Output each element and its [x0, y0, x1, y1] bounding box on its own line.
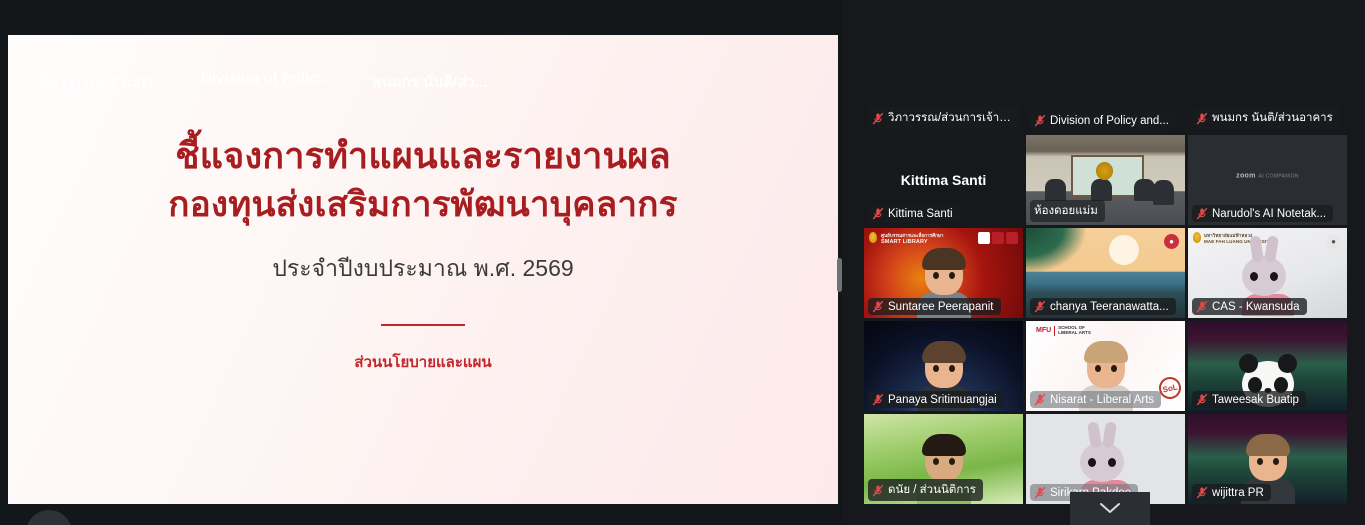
- mfu-logo: MFUSCHOOL OFLIBERAL ARTS: [1036, 326, 1091, 336]
- participant-tile-grid: วิภาวรรณ/ส่วนการเจ้าห... Division of Pol…: [864, 107, 1348, 507]
- mic-muted-icon: [872, 393, 884, 406]
- mic-muted-icon: [1034, 300, 1046, 313]
- active-speaker-name-strip: วิภาวรรณ/ส่วนกา... Division of Polic... …: [22, 70, 524, 98]
- slide-department: ส่วนนโยบายและแผน: [354, 350, 491, 374]
- tile-row: Kittima Santi Kittima Santi ห้องดอยแม่ม: [864, 135, 1348, 225]
- participant-name: Panaya Sritimuangjai: [888, 394, 997, 406]
- name-pill: ห้องดอยแม่ม: [1030, 200, 1105, 222]
- chevron-down-icon: [1099, 502, 1121, 515]
- participant-name: chanya Teeranawatta...: [1050, 301, 1169, 313]
- slide-subtitle: ประจำปีงบประมาณ พ.ศ. 2569: [272, 251, 573, 287]
- tile-row: วิภาวรรณ/ส่วนการเจ้าห... Division of Pol…: [864, 107, 1348, 132]
- badge-group: [978, 232, 1018, 244]
- participant-name: ห้องดอยแม่ม: [1034, 202, 1098, 220]
- recording-badge-icon: ●: [1164, 234, 1179, 249]
- participant-name: Kittima Santi: [888, 208, 953, 220]
- mic-muted-icon: [872, 207, 884, 220]
- name-pill: Narudol's AI Notetak...: [1192, 205, 1333, 222]
- participant-tile[interactable]: วิภาวรรณ/ส่วนการเจ้าห...: [864, 107, 1023, 132]
- participant-tile[interactable]: Division of Policy and...: [1026, 107, 1185, 132]
- participant-name: วิภาวรรณ/ส่วนการเจ้าห...: [888, 109, 1013, 127]
- mic-muted-icon: [1196, 112, 1208, 125]
- name-pill: Suntaree Peerapanit: [868, 298, 1001, 315]
- slide-title-line-2: กองทุนส่งเสริมการพัฒนาบุคลากร: [168, 181, 677, 229]
- participant-name: พนมกร นันติ/ส่วนอาคาร: [1212, 109, 1333, 127]
- name-pill: Taweesak Buatip: [1192, 391, 1306, 408]
- university-logo: มหาวิทยาลัยแม่ฟ้าหลวง MAE FAH LUANG UNIV…: [1204, 233, 1272, 244]
- university-crest-icon: [869, 232, 877, 243]
- name-pill: พนมกร นันติ/ส่วนอาคาร: [1192, 107, 1340, 129]
- tile-row: ดนัย / ส่วนนิติการ Sirikarn Pakdee: [864, 414, 1348, 504]
- name-pill: Division of Policy and...: [1030, 112, 1176, 129]
- name-pill: Kittima Santi: [868, 205, 960, 222]
- mic-muted-icon: [1196, 300, 1208, 313]
- slide-divider-rule: [381, 324, 465, 326]
- participant-tile[interactable]: MFUSCHOOL OFLIBERAL ARTS SoL Nisarat - L…: [1026, 321, 1185, 411]
- zoom-watermark-icon: zoomAI COMPANION: [1236, 173, 1299, 180]
- participant-name: Narudol's AI Notetak...: [1212, 208, 1326, 220]
- mic-muted-icon: [1196, 393, 1208, 406]
- participant-name: CAS - Kwansuda: [1212, 301, 1300, 313]
- speaker-name-3: พนมกร นันติ/ส่ว...: [348, 70, 511, 98]
- mic-muted-icon: [872, 484, 884, 497]
- smart-library-logo: ศูนย์บรรณสารและสื่อการศึกษา SMART LIBRAR…: [881, 233, 944, 246]
- mic-muted-icon: [1196, 486, 1208, 499]
- participant-name: Nisarat - Liberal Arts: [1050, 394, 1154, 406]
- mic-muted-icon: [872, 300, 884, 313]
- name-pill: วิภาวรรณ/ส่วนการเจ้าห...: [868, 107, 1020, 129]
- name-pill: wijittra PR: [1192, 484, 1271, 501]
- participant-tile[interactable]: wijittra PR: [1188, 414, 1347, 504]
- participant-tile[interactable]: ศูนย์บรรณสารและสื่อการศึกษา SMART LIBRAR…: [864, 228, 1023, 318]
- participant-name: Taweesak Buatip: [1212, 394, 1299, 406]
- university-crest-icon: [1193, 232, 1201, 243]
- participant-tile[interactable]: ดนัย / ส่วนนิติการ: [864, 414, 1023, 504]
- name-pill: chanya Teeranawatta...: [1030, 298, 1176, 315]
- participant-tile[interactable]: zoomAI COMPANION Narudol's AI Notetak...: [1188, 135, 1347, 225]
- tile-row: Panaya Sritimuangjai MFUSCHOOL OFLIBERAL…: [864, 321, 1348, 411]
- zoom-meeting-window: ชี้แจงการทำแผนและรายงานผล กองทุนส่งเสริม…: [0, 0, 1365, 525]
- badge-icon: [992, 232, 1004, 244]
- name-pill: ดนัย / ส่วนนิติการ: [868, 479, 983, 501]
- name-pill: Nisarat - Liberal Arts: [1030, 391, 1161, 408]
- participant-tile[interactable]: Panaya Sritimuangjai: [864, 321, 1023, 411]
- name-pill: Panaya Sritimuangjai: [868, 391, 1004, 408]
- participant-tile-active-speaker[interactable]: ห้องดอยแม่ม: [1026, 135, 1185, 225]
- participant-name: Division of Policy and...: [1050, 115, 1169, 127]
- participant-tile[interactable]: ● chanya Teeranawatta...: [1026, 228, 1185, 318]
- participant-tile[interactable]: Taweesak Buatip: [1188, 321, 1347, 411]
- mic-muted-icon: [872, 112, 884, 125]
- badge-icon: [1006, 232, 1018, 244]
- participant-tile[interactable]: Sirikarn Pakdee: [1026, 414, 1185, 504]
- speaker-name-2: Division of Polic...: [183, 70, 348, 98]
- mic-muted-icon: [1034, 486, 1046, 499]
- participant-tile[interactable]: Kittima Santi Kittima Santi: [864, 135, 1023, 225]
- participant-tile[interactable]: พนมกร นันติ/ส่วนอาคาร: [1188, 107, 1347, 132]
- tile-row: ศูนย์บรรณสารและสื่อการศึกษา SMART LIBRAR…: [864, 228, 1348, 318]
- slide-content: ชี้แจงการทำแผนและรายงานผล กองทุนส่งเสริม…: [8, 35, 838, 504]
- participant-name: wijittra PR: [1212, 487, 1264, 499]
- gallery-scroll-down-button[interactable]: [1070, 492, 1150, 525]
- participant-name: Suntaree Peerapanit: [888, 301, 994, 313]
- toolbar-button-stub[interactable]: [26, 510, 72, 525]
- speaker-name-1: วิภาวรรณ/ส่วนกา...: [22, 70, 183, 98]
- participant-name: ดนัย / ส่วนนิติการ: [888, 481, 976, 499]
- participant-center-name: Kittima Santi: [864, 172, 1023, 188]
- badge-icon: [978, 232, 990, 244]
- shared-screen-slide[interactable]: ชี้แจงการทำแผนและรายงานผล กองทุนส่งเสริม…: [8, 35, 838, 504]
- name-pill: CAS - Kwansuda: [1192, 298, 1307, 315]
- user-badge-icon: ●: [1326, 234, 1341, 249]
- slide-title-line-1: ชี้แจงการทำแผนและรายงานผล: [175, 131, 671, 181]
- mic-muted-icon: [1034, 393, 1046, 406]
- mic-muted-icon: [1196, 207, 1208, 220]
- participant-tile[interactable]: มหาวิทยาลัยแม่ฟ้าหลวง MAE FAH LUANG UNIV…: [1188, 228, 1347, 318]
- mic-muted-icon: [1034, 114, 1046, 127]
